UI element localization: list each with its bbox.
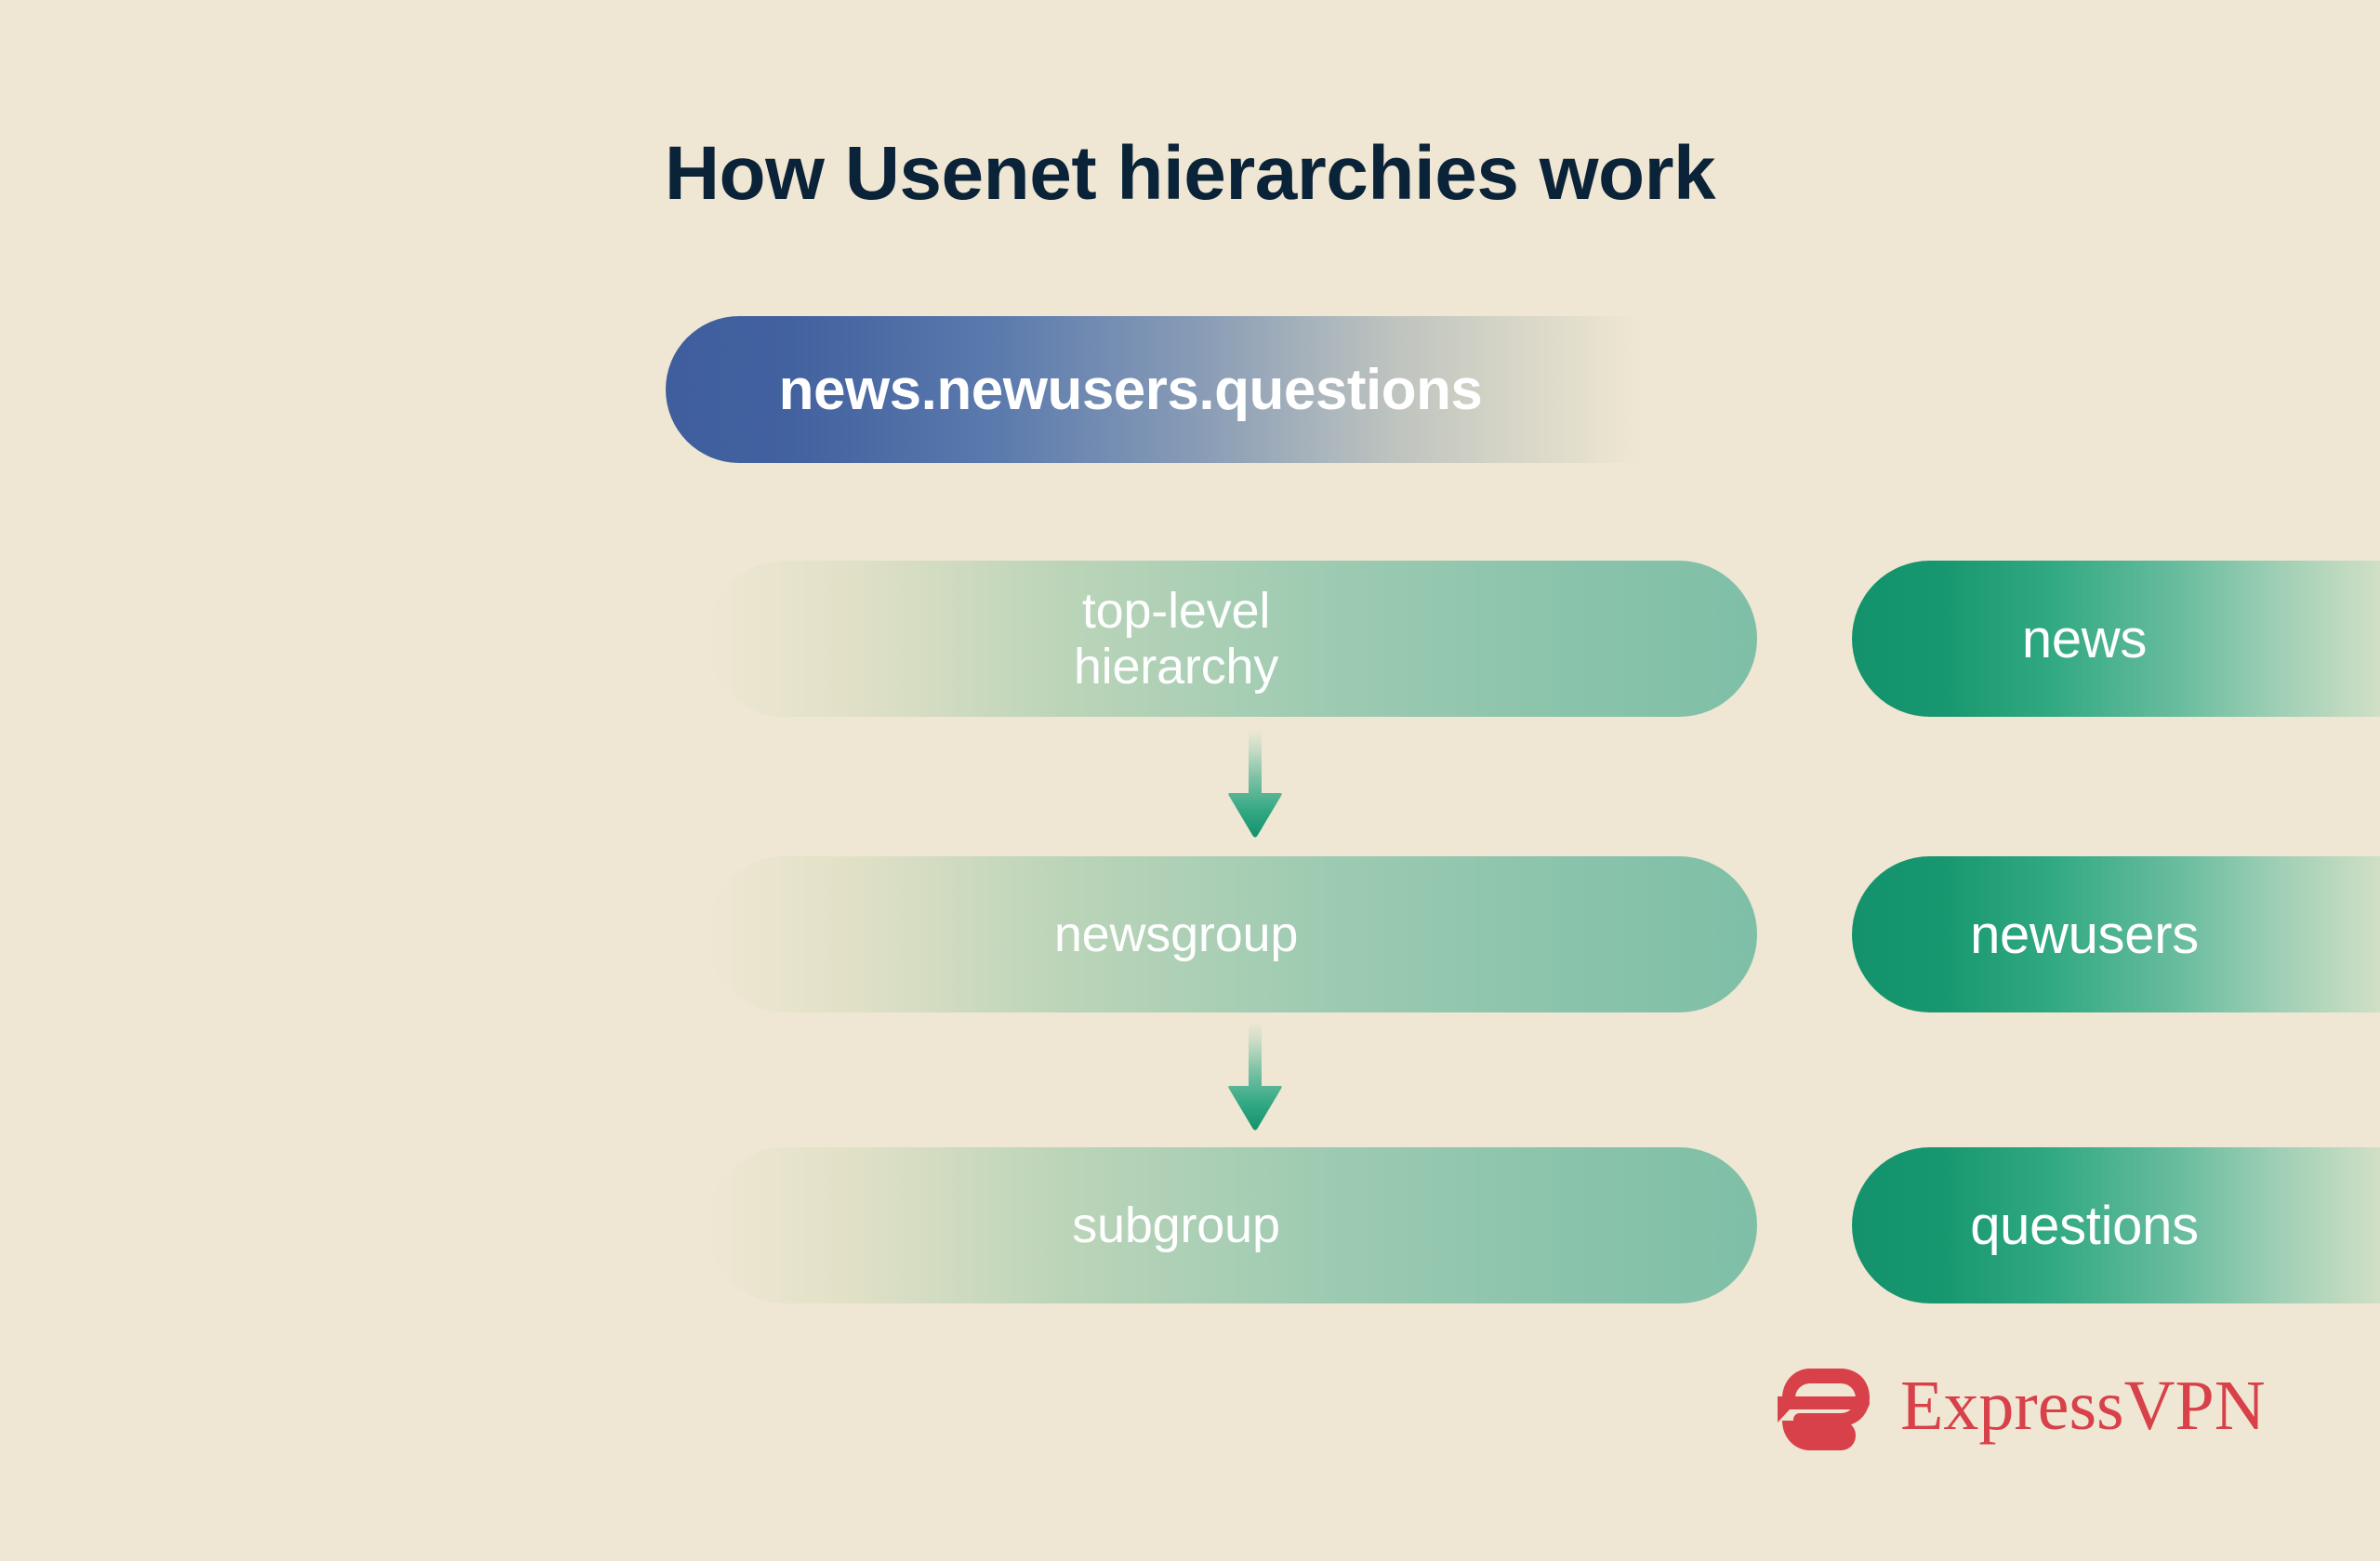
hierarchy-token-pill-newusers: newusers (1852, 856, 2380, 1012)
expressvpn-wordmark: ExpressVPN (1900, 1370, 2266, 1441)
hierarchy-token-label-questions: questions (1852, 1147, 2317, 1303)
hierarchy-token-pill-questions: questions (1852, 1147, 2380, 1303)
hierarchy-row-top-level: top-level hierarchy news (707, 561, 1770, 717)
hierarchy-role-label-newsgroup: newsgroup (707, 856, 1646, 1012)
hierarchy-role-label-subgroup: subgroup (707, 1147, 1646, 1303)
hierarchy-row-newsgroup: newsgroup newusers (707, 856, 1770, 1012)
expressvpn-logo: ExpressVPN (1772, 1359, 2190, 1462)
infographic-canvas: How Usenet hierarchies work news.newuser… (0, 0, 2380, 1561)
hierarchy-token-pill-news: news (1852, 561, 2380, 717)
page-title: How Usenet hierarchies work (0, 136, 2380, 212)
hierarchy-role-label-line-1: top-level (1082, 583, 1270, 639)
full-newsgroup-name-label: news.newusers.questions (666, 316, 1595, 463)
hierarchy-role-label-line-2: hierarchy (1074, 639, 1278, 695)
arrow-level-2-to-3-icon (1227, 1023, 1283, 1132)
hierarchy-token-label-newusers: newusers (1852, 856, 2317, 1012)
arrow-level-1-to-2-icon (1227, 730, 1283, 840)
expressvpn-e-mark-icon (1772, 1363, 1876, 1456)
hierarchy-row-subgroup: subgroup questions (707, 1147, 1770, 1303)
hierarchy-token-label-news: news (1852, 561, 2317, 717)
full-newsgroup-name-pill: news.newusers.questions (666, 316, 1703, 463)
hierarchy-role-label-top-level: top-level hierarchy (707, 561, 1646, 717)
